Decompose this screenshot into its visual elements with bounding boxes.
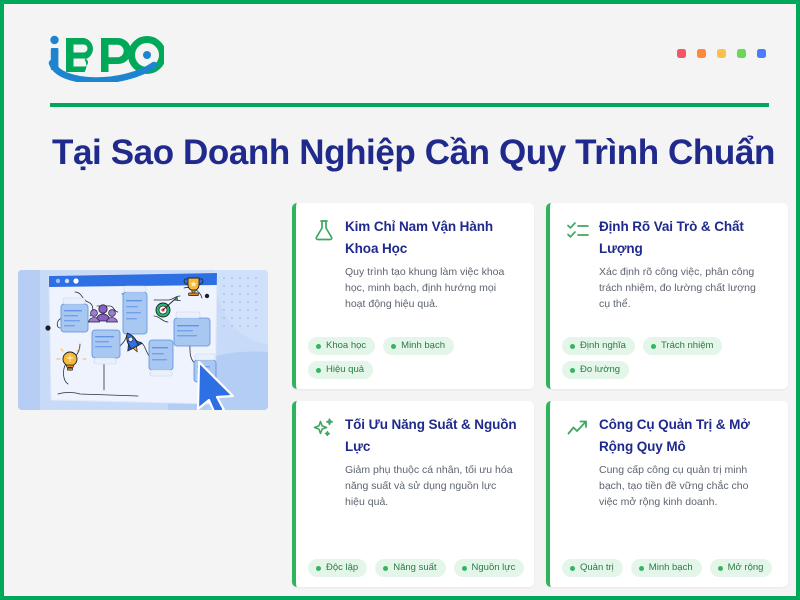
- color-dots-group: [677, 49, 766, 58]
- tag-label: Quản trị: [580, 562, 614, 574]
- trending-up-icon: [566, 416, 590, 440]
- tag-label: Minh bạch: [401, 340, 445, 352]
- page-header: [4, 4, 796, 96]
- tag-label: Đo lường: [580, 364, 620, 376]
- tag[interactable]: Năng suất: [375, 559, 445, 577]
- card-description: Cung cấp công cụ quản trị minh bạch, tạo…: [599, 462, 769, 510]
- card-tags: Độc lập Năng suất Nguồn lực: [308, 559, 526, 577]
- card-header: Tối Ưu Năng Suất & Nguồn Lực: [312, 414, 521, 458]
- flask-icon: [312, 218, 336, 242]
- card-tags: Quản trị Minh bạch Mở rộng: [562, 559, 780, 577]
- tag-label: Độc lập: [326, 562, 358, 574]
- benefit-card-4[interactable]: Công Cụ Quản Trị & Mở Rộng Quy Mô Cung c…: [546, 401, 788, 587]
- tag-dot-icon: [718, 566, 723, 571]
- card-title: Tối Ưu Năng Suất & Nguồn Lực: [345, 414, 521, 458]
- benefit-card-2[interactable]: Định Rõ Vai Trò & Chất Lượng Xác định rõ…: [546, 203, 788, 389]
- workflow-diagram-illustration: [18, 270, 268, 410]
- card-tags: Định nghĩa Trách nhiệm Đo lường: [562, 337, 780, 379]
- page-title: Tại Sao Doanh Nghiệp Cần Quy Trình Chuẩn: [52, 130, 772, 176]
- tag[interactable]: Nguồn lực: [454, 559, 525, 577]
- card-description: Quy trình tạo khung làm việc khoa học, m…: [345, 264, 515, 312]
- tag-label: Minh bạch: [649, 562, 693, 574]
- tag[interactable]: Minh bạch: [383, 337, 454, 355]
- dot-yellow: [717, 49, 726, 58]
- tag[interactable]: Mở rộng: [710, 559, 773, 577]
- tag[interactable]: Minh bạch: [631, 559, 702, 577]
- dot-blue: [757, 49, 766, 58]
- tag-dot-icon: [570, 368, 575, 373]
- card-header: Định Rõ Vai Trò & Chất Lượng: [566, 216, 775, 260]
- tag[interactable]: Đo lường: [562, 361, 629, 379]
- tag-dot-icon: [639, 566, 644, 571]
- benefit-card-1[interactable]: Kim Chỉ Nam Vận Hành Khoa Học Quy trình …: [292, 203, 534, 389]
- tag[interactable]: Định nghĩa: [562, 337, 635, 355]
- checklist-icon: [566, 218, 590, 242]
- header-divider: [50, 103, 769, 107]
- card-header: Công Cụ Quản Trị & Mở Rộng Quy Mô: [566, 414, 775, 458]
- tag-dot-icon: [383, 566, 388, 571]
- tag-label: Định nghĩa: [580, 340, 626, 352]
- card-title: Định Rõ Vai Trò & Chất Lượng: [599, 216, 775, 260]
- dot-orange: [697, 49, 706, 58]
- card-tags: Khoa học Minh bạch Hiệu quả: [308, 337, 526, 379]
- card-header: Kim Chỉ Nam Vận Hành Khoa Học: [312, 216, 521, 260]
- tag-dot-icon: [316, 368, 321, 373]
- tag-dot-icon: [391, 344, 396, 349]
- tag[interactable]: Độc lập: [308, 559, 367, 577]
- card-description: Xác định rõ công việc, phân công trách n…: [599, 264, 769, 312]
- benefit-cards-grid: Kim Chỉ Nam Vận Hành Khoa Học Quy trình …: [292, 203, 788, 587]
- card-title: Kim Chỉ Nam Vận Hành Khoa Học: [345, 216, 521, 260]
- tag[interactable]: Hiệu quả: [308, 361, 373, 379]
- tag-label: Hiệu quả: [326, 364, 364, 376]
- benefit-card-3[interactable]: Tối Ưu Năng Suất & Nguồn Lực Giảm phụ th…: [292, 401, 534, 587]
- card-title: Công Cụ Quản Trị & Mở Rộng Quy Mô: [599, 414, 775, 458]
- tag-dot-icon: [462, 566, 467, 571]
- tag-dot-icon: [570, 566, 575, 571]
- sparkle-icon: [312, 416, 336, 440]
- dot-red: [677, 49, 686, 58]
- tag[interactable]: Trách nhiệm: [643, 337, 722, 355]
- tag-dot-icon: [651, 344, 656, 349]
- slide-page: Tại Sao Doanh Nghiệp Cần Quy Trình Chuẩn: [0, 0, 800, 600]
- ibpo-logo: [46, 30, 164, 82]
- tag[interactable]: Quản trị: [562, 559, 623, 577]
- tag-label: Mở rộng: [728, 562, 764, 574]
- tag-dot-icon: [570, 344, 575, 349]
- tag-label: Năng suất: [393, 562, 436, 574]
- tag[interactable]: Khoa học: [308, 337, 375, 355]
- tag-label: Trách nhiệm: [661, 340, 713, 352]
- tag-label: Khoa học: [326, 340, 366, 352]
- tag-label: Nguồn lực: [472, 562, 516, 574]
- tag-dot-icon: [316, 344, 321, 349]
- dot-green: [737, 49, 746, 58]
- tag-dot-icon: [316, 566, 321, 571]
- card-description: Giảm phụ thuộc cá nhân, tối ưu hóa năng …: [345, 462, 515, 510]
